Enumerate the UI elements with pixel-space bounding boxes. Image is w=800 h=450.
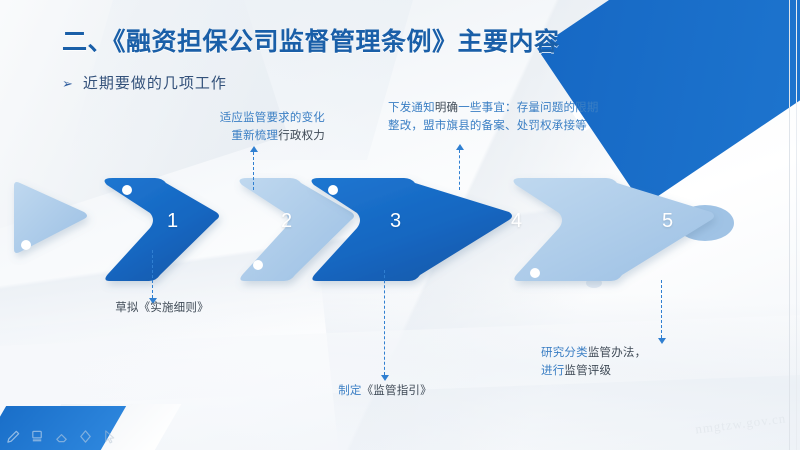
- process-arrow-4[interactable]: [312, 178, 512, 281]
- anchor-dot-3: [253, 260, 263, 270]
- anchor-dot-4: [328, 185, 338, 195]
- callout-span: 下发通知: [388, 102, 435, 114]
- callout-line: 研究分类监管办法，: [541, 345, 751, 363]
- callout-span: 行政权力: [278, 130, 325, 142]
- process-arrow-5[interactable]: [514, 178, 714, 281]
- cursor-icon[interactable]: [102, 429, 117, 444]
- process-arrow-2[interactable]: [105, 178, 219, 281]
- callout-span: 制定: [338, 385, 361, 397]
- connector-arrowhead-2: [250, 146, 258, 152]
- connector-arrowhead-5: [658, 338, 666, 344]
- bullet-arrow-icon: ➢: [62, 76, 74, 91]
- pen-icon[interactable]: [6, 429, 21, 444]
- anchor-dot-5: [530, 268, 540, 278]
- process-step-number-3: 3: [390, 210, 401, 233]
- callout-line: 重新梳理行政权力: [175, 128, 325, 146]
- callout-span: 进行: [541, 365, 564, 377]
- callout-span: 重新梳理: [231, 130, 278, 142]
- callout-step-4: 下发通知明确一些事宜：存量问题的限期 整改，盟市旗县的备案、处罚权承接等: [388, 100, 638, 136]
- callout-span: 监管办法，: [588, 347, 647, 359]
- connector-line-1: [152, 250, 153, 298]
- slide-canvas: 二、《融资担保公司监督管理条例》主要内容 ➢近期要做的几项工作: [0, 0, 800, 450]
- connector-arrowhead-3: [381, 375, 389, 381]
- process-step-number-4: 4: [511, 210, 522, 233]
- page-subtitle: ➢近期要做的几项工作: [62, 72, 227, 93]
- callout-step-3: 制定《监管指引》: [310, 383, 460, 401]
- page-title: 二、《融资担保公司监督管理条例》主要内容: [62, 22, 560, 58]
- page-subtitle-text: 近期要做的几项工作: [83, 75, 227, 92]
- callout-step-2: 适应监管要求的变化 重新梳理行政权力: [175, 110, 325, 146]
- connector-line-2: [253, 152, 254, 190]
- shape-icon[interactable]: [78, 429, 93, 444]
- callout-span: 整改，盟市旗县的备案、处罚权承接等: [388, 120, 587, 132]
- eraser-icon[interactable]: [54, 429, 69, 444]
- connector-line-5: [661, 280, 662, 338]
- connector-line-3: [384, 270, 385, 375]
- anchor-dot-2: [122, 185, 132, 195]
- callout-line: 整改，盟市旗县的备案、处罚权承接等: [388, 118, 638, 136]
- callout-span: 明确: [435, 102, 458, 114]
- connector-arrowhead-4: [456, 144, 464, 150]
- process-step-number-2: 2: [281, 210, 292, 233]
- watermark: nmgtzw.gov.cn: [694, 410, 787, 437]
- callout-span: 适应监管要求的变化: [220, 112, 325, 124]
- process-step-number-5: 5: [662, 210, 673, 233]
- highlighter-icon[interactable]: [30, 429, 45, 444]
- callout-span: 监管评级: [564, 365, 611, 377]
- callout-line: 下发通知明确一些事宜：存量问题的限期: [388, 100, 638, 118]
- anchor-dot-1: [21, 240, 31, 250]
- callout-step-1: 草拟《实施细则》: [92, 300, 232, 318]
- callout-line: 进行监管评级: [541, 363, 751, 381]
- process-arrow-group: 1 2 3 4 5: [0, 150, 800, 310]
- callout-span: 研究分类: [541, 347, 588, 359]
- callout-span: 一些事宜：存量问题的限期: [458, 102, 598, 114]
- callout-line: 制定《监管指引》: [310, 383, 460, 401]
- process-step-number-1: 1: [167, 210, 178, 233]
- annotation-toolbar[interactable]: [6, 429, 117, 444]
- callout-line: 草拟《实施细则》: [92, 300, 232, 318]
- callout-span: 草拟《实施细则》: [115, 302, 209, 314]
- connector-line-4: [459, 150, 460, 190]
- callout-span: 《监管指引》: [362, 385, 432, 397]
- callout-line: 适应监管要求的变化: [175, 110, 325, 128]
- callout-step-5: 研究分类监管办法， 进行监管评级: [541, 345, 751, 381]
